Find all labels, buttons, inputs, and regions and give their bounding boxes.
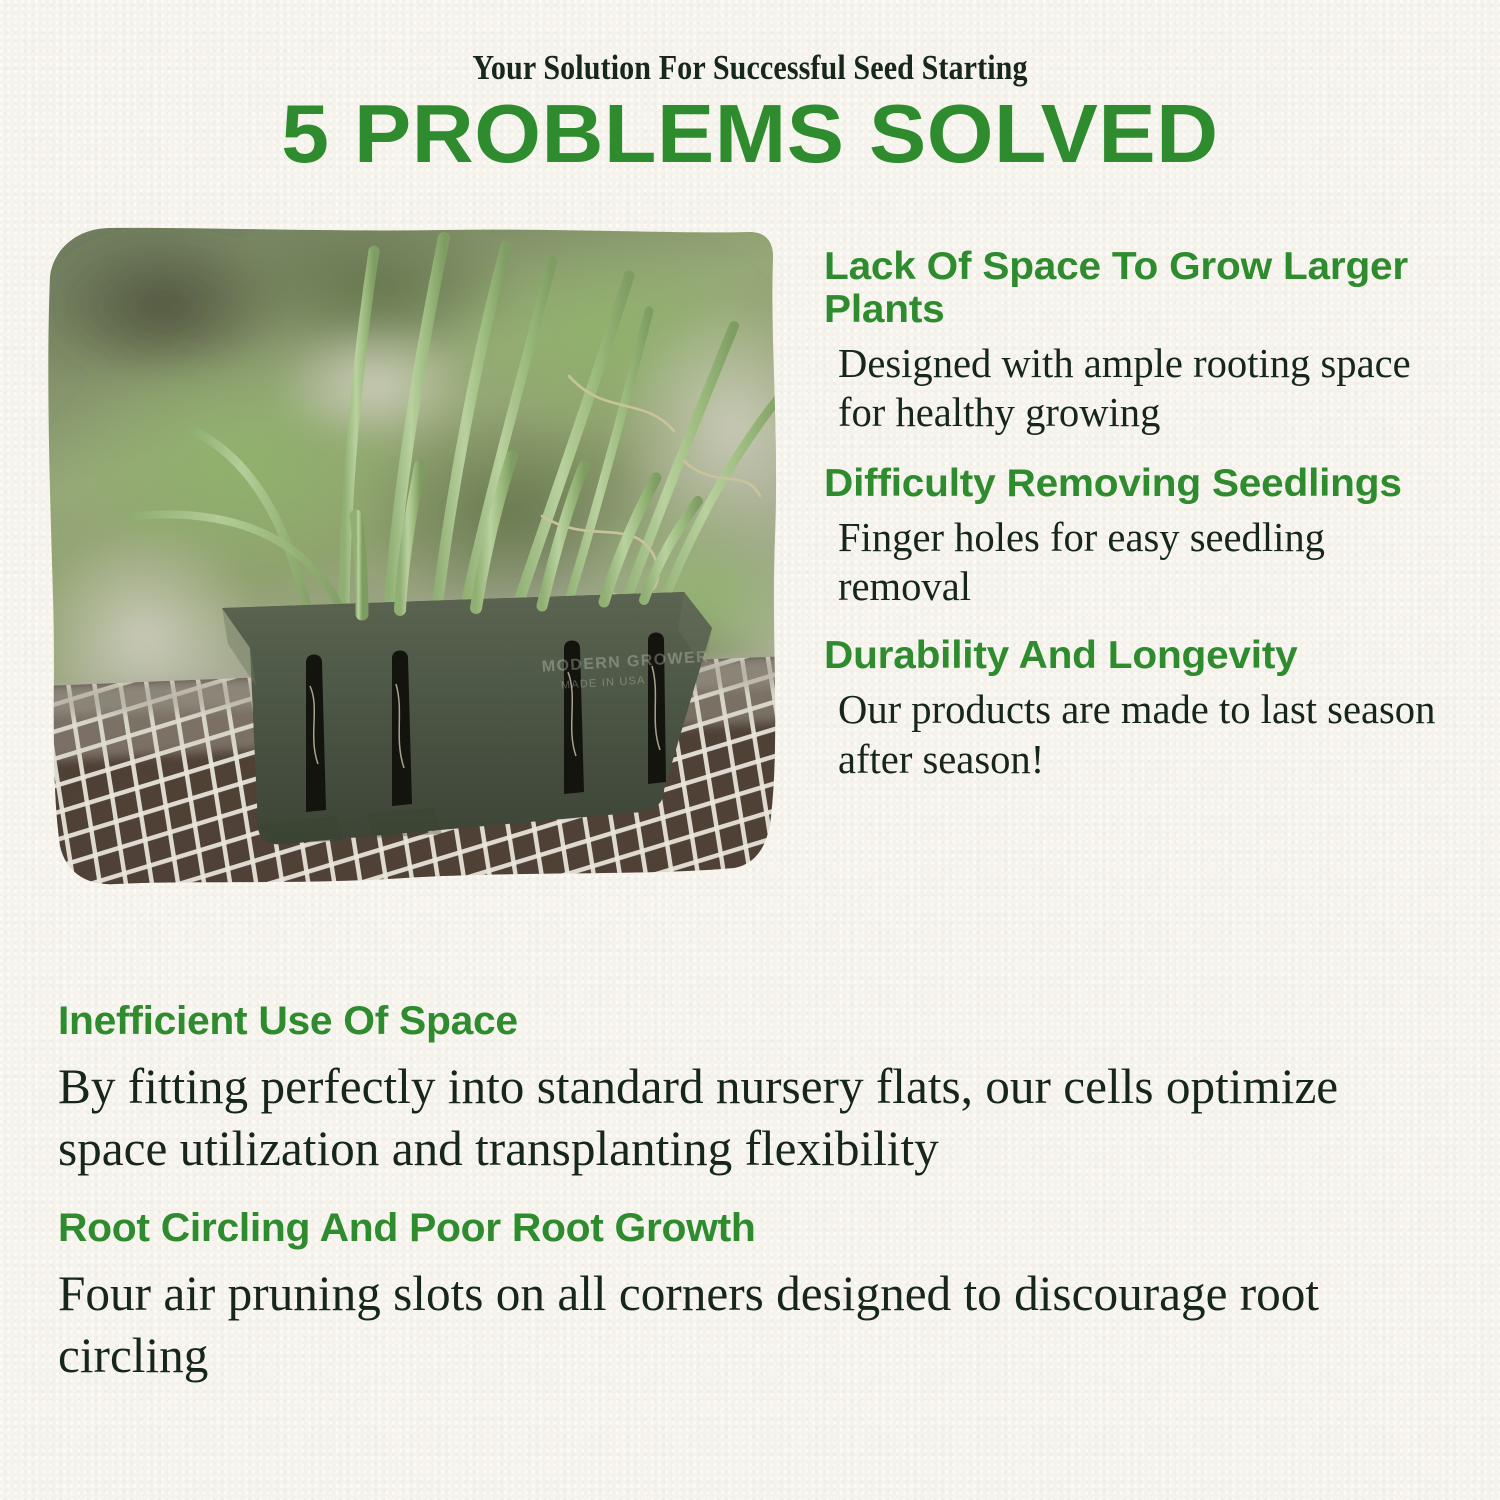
eyebrow-tagline: Your Solution For Successful Seed Starti… <box>105 48 1395 88</box>
benefit-body-3: Our products are made to last season aft… <box>838 685 1462 783</box>
benefit-heading-5: Root Circling And Poor Root Growth <box>58 1207 1476 1250</box>
bottom-section: Inefficient Use Of Space By fitting perf… <box>58 1000 1448 1386</box>
header: Your Solution For Successful Seed Starti… <box>0 0 1500 170</box>
benefit-block-5: Root Circling And Poor Root Growth Four … <box>58 1207 1448 1386</box>
product-photo: Onion <box>44 216 792 906</box>
right-column: Lack Of Space To Grow Larger Plants Desi… <box>824 246 1468 784</box>
benefit-body-5: Four air pruning slots on all corners de… <box>58 1262 1427 1386</box>
seed-tray: MODERN GROWER MADE IN USA <box>222 592 712 844</box>
benefit-body-1: Designed with ample rooting space for he… <box>838 339 1462 437</box>
benefit-heading-1: Lack Of Space To Grow Larger Plants <box>824 246 1494 332</box>
benefit-heading-2: Difficulty Removing Seedlings <box>824 463 1494 506</box>
page-title: 5 PROBLEMS SOLVED <box>0 92 1500 175</box>
benefit-block-3: Durability And Longevity Our products ar… <box>824 635 1468 783</box>
benefit-heading-4: Inefficient Use Of Space <box>58 1000 1476 1043</box>
photo-content: Onion <box>44 216 792 906</box>
benefit-block-1: Lack Of Space To Grow Larger Plants Desi… <box>824 246 1468 437</box>
benefit-body-4: By fitting perfectly into standard nurse… <box>58 1055 1427 1179</box>
benefit-block-4: Inefficient Use Of Space By fitting perf… <box>58 1000 1448 1179</box>
benefit-block-2: Difficulty Removing Seedlings Finger hol… <box>824 463 1468 611</box>
infographic-page: Your Solution For Successful Seed Starti… <box>0 0 1500 1500</box>
seedling-tray-photo: Onion <box>44 216 792 906</box>
benefit-body-2: Finger holes for easy seedling removal <box>838 513 1462 611</box>
benefit-heading-3: Durability And Longevity <box>824 635 1494 678</box>
